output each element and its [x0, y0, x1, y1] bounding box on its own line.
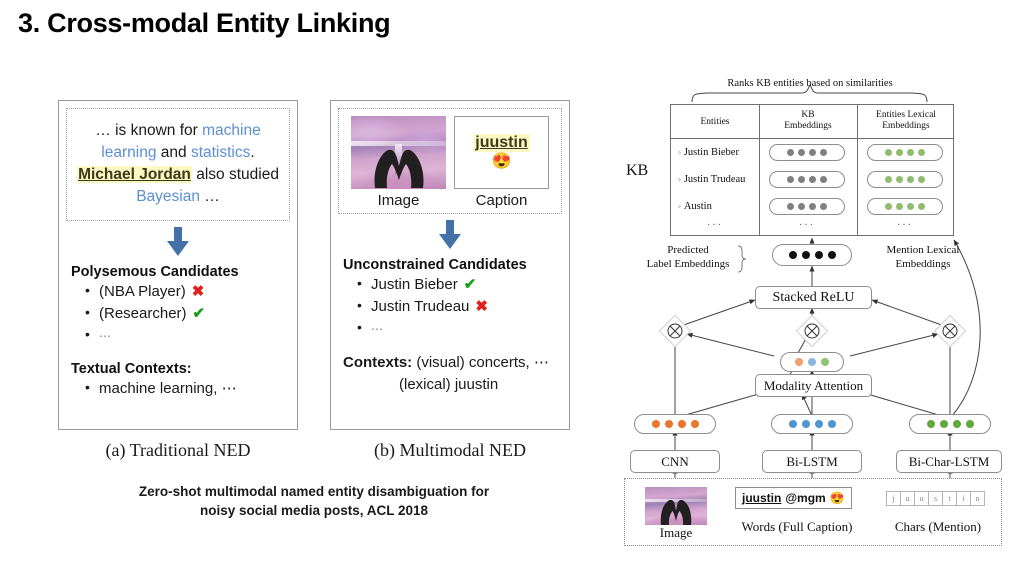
citation-line-1: Zero-shot multimodal named entity disamb…: [58, 482, 570, 501]
embedding-dot: [896, 203, 903, 210]
contexts-heading-a: Textual Contexts:: [71, 361, 297, 377]
embedding-dot: [665, 420, 673, 428]
table-row: ◦Justin Trudeau: [678, 174, 745, 185]
image-cell: Image: [351, 116, 446, 213]
embedding-dot: [815, 420, 823, 428]
embedding-dot: [907, 176, 914, 183]
embedding-dot: [798, 176, 805, 183]
label-line: Embeddings: [868, 258, 978, 272]
embedding-dot: [927, 420, 935, 428]
contexts-line-lexical: (lexical) juustin: [343, 374, 569, 396]
kb-embedding-pill: [769, 144, 845, 161]
label-line: Label Embeddings: [640, 258, 736, 272]
embedding-dot: [798, 149, 805, 156]
predicted-label-embeddings-label: Predicted Label Embeddings: [640, 244, 736, 272]
char-cell: j: [886, 491, 901, 506]
context-lexical: (lexical) juustin: [399, 376, 498, 393]
embedding-dot: [787, 176, 794, 183]
spacer: [71, 346, 297, 359]
column-header-entities: Entities: [671, 117, 759, 128]
wrong-icon: ✖: [192, 283, 205, 300]
entity-name: Justin Bieber: [684, 147, 739, 158]
input-image-label: Image: [635, 525, 717, 541]
image-feature-pill: [634, 414, 716, 434]
attention-weight-dot: [808, 358, 816, 366]
heart-eyes-emoji-icon: 😍: [830, 491, 845, 505]
page-title: 3. Cross-modal Entity Linking: [18, 8, 390, 39]
table-row: ◦Justin Bieber: [678, 147, 739, 158]
list-item: ⋯: [357, 318, 569, 340]
table-row: ◦Austin: [678, 201, 712, 212]
stacked-relu-block[interactable]: Stacked ReLU: [755, 286, 872, 309]
label-line: Predicted: [640, 244, 736, 258]
embedding-dot: [953, 420, 961, 428]
header-line: Embeddings: [857, 121, 955, 132]
sentence-link-statistics: statistics: [191, 144, 250, 161]
embedding-dot: [896, 149, 903, 156]
correct-icon: ✔: [464, 276, 477, 293]
kb-table: Entities KB Embeddings Entities Lexical …: [670, 104, 954, 236]
input-image-thumbnail: [645, 487, 707, 525]
embedding-dot: [809, 203, 816, 210]
candidate-label: (Researcher): [99, 305, 187, 322]
lexical-embedding-pill: [867, 144, 943, 161]
sentence-part-3: .: [250, 144, 254, 161]
caption-label: Caption: [454, 189, 549, 213]
bilstm-encoder-block[interactable]: Bi-LSTM: [762, 450, 862, 473]
candidate-label: Justin Bieber: [371, 276, 458, 293]
media-box: Image juustin 😍 Caption: [338, 108, 562, 214]
architecture-diagram: Ranks KB entities based on similarities …: [612, 78, 1012, 548]
embedding-dot: [907, 203, 914, 210]
contexts-line-visual: Contexts: (visual) concerts, ⋯: [343, 352, 569, 374]
embedding-dot: [918, 149, 925, 156]
list-item: Justin Trudeau✖: [357, 296, 569, 318]
sentence-box: … is known for machine learning and stat…: [66, 108, 290, 221]
embedding-dot: [789, 251, 797, 259]
label-line: Mention Lexical: [868, 244, 978, 258]
panel-multimodal-ned: Image juustin 😍 Caption Unconstrained Ca…: [330, 100, 570, 430]
embedding-dot: [820, 203, 827, 210]
list-item: (NBA Player)✖: [85, 281, 297, 303]
char-cell: t: [942, 491, 957, 506]
blue-down-arrow-icon: [59, 227, 297, 262]
embedding-dot: [691, 420, 699, 428]
blue-down-arrow-icon: [331, 220, 569, 255]
lexical-embedding-pill: [867, 171, 943, 188]
table-ellipsis: ···: [897, 220, 913, 231]
embedding-dot: [940, 420, 948, 428]
embedding-dot: [809, 149, 816, 156]
context-visual: (visual) concerts, ⋯: [416, 354, 549, 371]
embedding-dot: [885, 176, 892, 183]
char-cell: s: [928, 491, 943, 506]
embedding-dot: [652, 420, 660, 428]
embedding-dot: [809, 176, 816, 183]
column-header-kb-embeddings: KB Embeddings: [759, 110, 857, 132]
embedding-dot: [815, 251, 823, 259]
candidates-section-a: Polysemous Candidates (NBA Player)✖ (Res…: [59, 264, 297, 400]
sentence-link-bayesian: Bayesian: [136, 188, 200, 205]
image-label: Image: [351, 189, 446, 213]
candidates-section-b: Unconstrained Candidates Justin Bieber✔ …: [331, 257, 569, 396]
word-feature-pill: [771, 414, 853, 434]
char-feature-pill: [909, 414, 991, 434]
modality-attention-block[interactable]: Modality Attention: [755, 374, 872, 397]
list-item: machine learning, ⋯: [85, 378, 297, 400]
heart-hands-icon: [371, 144, 427, 188]
attention-weights-pill: [780, 352, 844, 372]
slide-canvas: 3. Cross-modal Entity Linking … is known…: [0, 0, 1024, 572]
table-header-divider: [671, 138, 953, 139]
input-words-label: Words (Full Caption): [717, 519, 877, 535]
candidate-label: ⋯: [371, 322, 384, 336]
kb-embedding-pill: [769, 171, 845, 188]
embedding-dot: [885, 203, 892, 210]
cnn-encoder-block[interactable]: CNN: [630, 450, 720, 473]
candidate-label: ⋯: [99, 329, 112, 343]
embedding-dot: [678, 420, 686, 428]
example-sentence: … is known for machine learning and stat…: [67, 109, 289, 220]
candidate-label: Justin Trudeau: [371, 298, 469, 315]
embedding-dot: [885, 149, 892, 156]
table-ellipsis: ···: [707, 220, 723, 231]
embedding-dot: [802, 251, 810, 259]
input-chars-strip: j u u s t i n: [887, 491, 985, 506]
attention-weight-dot: [821, 358, 829, 366]
predicted-embedding-pill: [772, 244, 852, 266]
caption-content-box: juustin 😍: [454, 116, 549, 189]
embedding-dot: [787, 149, 794, 156]
sentence-part-5: …: [200, 188, 220, 205]
bullet-circle-icon: ◦: [678, 148, 681, 157]
entity-name: Justin Trudeau: [684, 174, 746, 185]
caption-cell: juustin 😍 Caption: [454, 116, 549, 213]
sentence-part-1: … is known for: [95, 122, 202, 139]
panel-traditional-ned: … is known for machine learning and stat…: [58, 100, 298, 430]
wrong-icon: ✖: [475, 298, 488, 315]
list-item: Justin Bieber✔: [357, 274, 569, 296]
ranking-note: Ranks KB entities based on similarities: [690, 78, 930, 89]
candidate-label: (NBA Player): [99, 283, 186, 300]
embedding-dot: [789, 420, 797, 428]
media-row: Image juustin 😍 Caption: [339, 109, 561, 213]
input-row-box: Image juustin @mgm 😍 Words (Full Caption…: [624, 478, 1002, 546]
embedding-dot: [828, 251, 836, 259]
embedding-dot: [820, 176, 827, 183]
sentence-part-2: and: [156, 144, 190, 161]
char-cell: n: [970, 491, 985, 506]
mention-lexical-embeddings-label: Mention Lexical Embeddings: [868, 244, 978, 272]
contexts-list-a: machine learning, ⋯: [71, 378, 297, 400]
list-item: ⋯: [85, 325, 297, 347]
bullet-circle-icon: ◦: [678, 202, 681, 211]
input-mention-word: juustin: [742, 491, 781, 505]
embedding-dot: [820, 149, 827, 156]
candidates-heading-b: Unconstrained Candidates: [343, 257, 569, 273]
header-line: KB: [759, 110, 857, 121]
kb-label: KB: [626, 162, 648, 180]
input-words-box: juustin @mgm 😍: [735, 487, 852, 509]
figure-caption-b: (b) Multimodal NED: [330, 440, 570, 461]
char-cell: u: [900, 491, 915, 506]
char-cell: u: [914, 491, 929, 506]
candidate-list-b: Justin Bieber✔ Justin Trudeau✖ ⋯: [343, 274, 569, 339]
table-ellipsis: ···: [799, 220, 815, 231]
input-handle: @mgm: [785, 491, 825, 505]
entity-name: Austin: [684, 201, 712, 212]
sentence-part-4: also studied: [192, 166, 279, 183]
input-chars-label: Chars (Mention): [873, 519, 1003, 535]
embedding-dot: [966, 420, 974, 428]
attention-weight-dot: [795, 358, 803, 366]
correct-icon: ✔: [193, 305, 206, 322]
paper-citation: Zero-shot multimodal named entity disamb…: [58, 482, 570, 520]
spacer: [343, 339, 569, 352]
column-header-lexical-embeddings: Entities Lexical Embeddings: [857, 110, 955, 132]
caption-mention: juustin: [473, 134, 529, 152]
embedding-dot: [787, 203, 794, 210]
header-line: Embeddings: [759, 121, 857, 132]
citation-line-2: noisy social media posts, ACL 2018: [58, 501, 570, 520]
list-item: (Researcher)✔: [85, 303, 297, 325]
embedding-dot: [907, 149, 914, 156]
embedding-dot: [802, 420, 810, 428]
candidates-heading-a: Polysemous Candidates: [71, 264, 297, 280]
embedding-dot: [828, 420, 836, 428]
bicharlstm-encoder-block[interactable]: Bi-Char-LSTM: [896, 450, 1002, 473]
header-line: Entities Lexical: [857, 110, 955, 121]
embedding-dot: [918, 203, 925, 210]
figure-caption-a: (a) Traditional NED: [58, 440, 298, 461]
char-cell: i: [956, 491, 971, 506]
kb-embedding-pill: [769, 198, 845, 215]
embedding-dot: [798, 203, 805, 210]
bullet-circle-icon: ◦: [678, 175, 681, 184]
concert-photo: [351, 116, 446, 189]
embedding-dot: [896, 176, 903, 183]
heart-eyes-emoji-icon: 😍: [492, 153, 512, 171]
contexts-heading-b: Contexts:: [343, 354, 412, 371]
candidate-list-a: (NBA Player)✖ (Researcher)✔ ⋯: [71, 281, 297, 346]
embedding-dot: [918, 176, 925, 183]
lexical-embedding-pill: [867, 198, 943, 215]
context-label: machine learning, ⋯: [99, 380, 237, 397]
highlighted-mention: Michael Jordan: [77, 166, 192, 183]
